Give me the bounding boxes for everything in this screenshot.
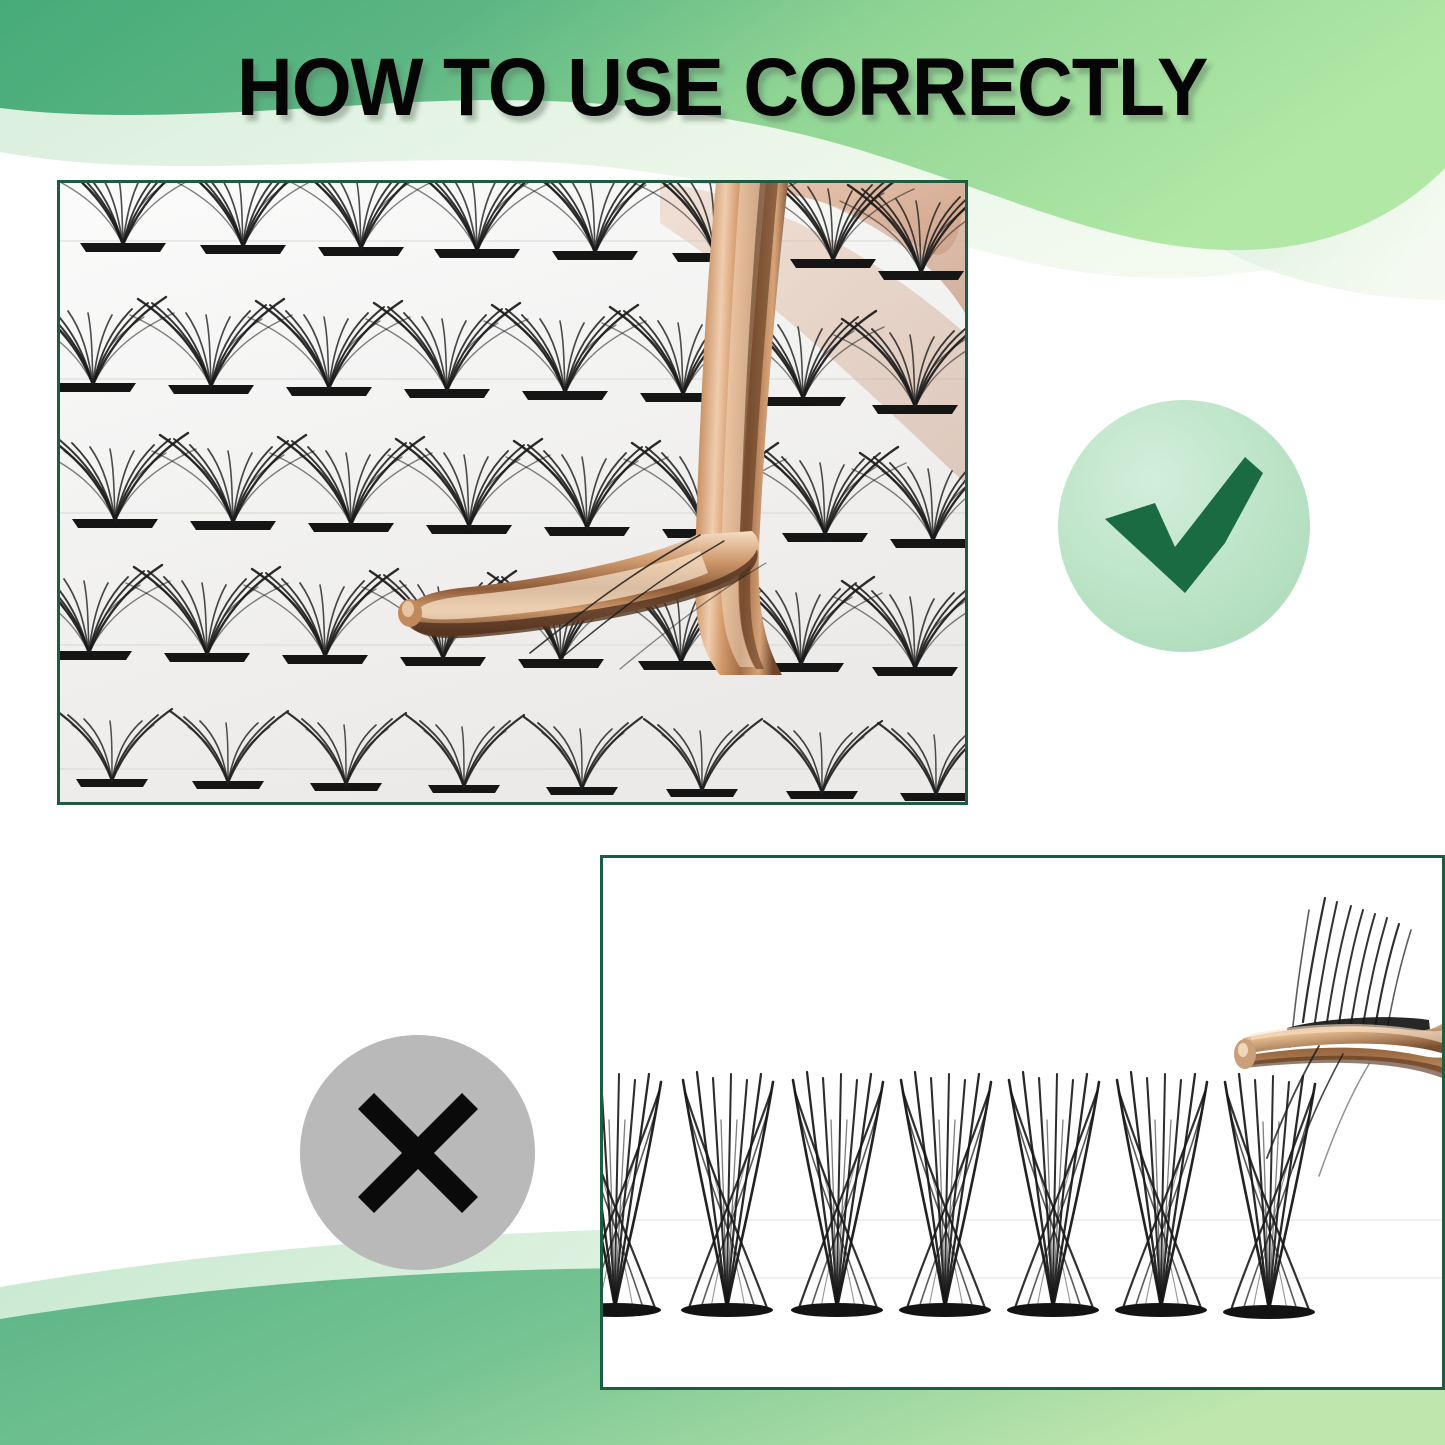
- page-title: HOW TO USE CORRECTLY: [237, 47, 1207, 129]
- title-container: HOW TO USE CORRECTLY: [0, 38, 1445, 138]
- cross-icon: [300, 1035, 535, 1270]
- infographic-canvas: HOW TO USE CORRECTLY: [0, 0, 1445, 1445]
- check-icon: [1058, 400, 1310, 652]
- photo-panel-incorrect: [600, 855, 1445, 1390]
- lash-tray-topview-image: [60, 183, 965, 802]
- photo-panel-correct: [57, 180, 968, 805]
- lash-row-sideview-image: [603, 858, 1442, 1387]
